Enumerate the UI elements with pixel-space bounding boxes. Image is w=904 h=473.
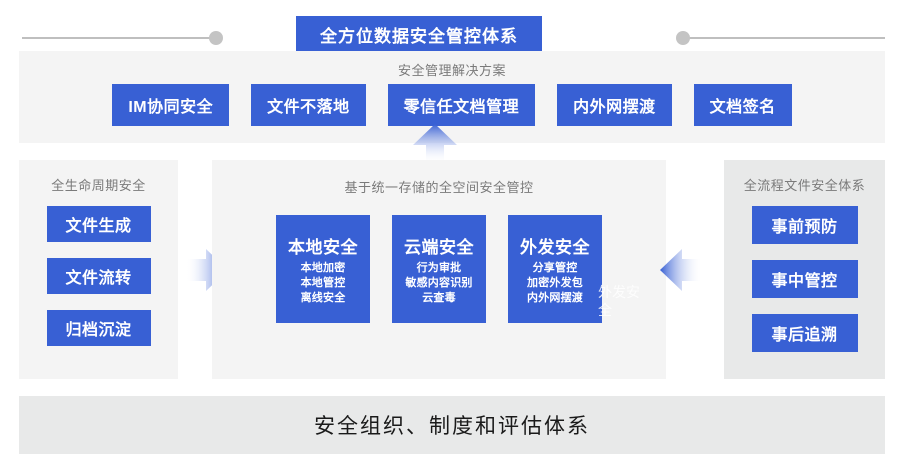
footer-label: 安全组织、制度和评估体系 (314, 410, 590, 440)
process-item-traceability[interactable]: 事后追溯 (752, 314, 858, 352)
lifecycle-item-file-circulation[interactable]: 文件流转 (47, 258, 151, 294)
solutions-caption: 安全管理解决方案 (19, 51, 885, 79)
page-title: 全方位数据安全管控体系 (296, 16, 542, 52)
lifecycle-caption: 全生命周期安全 (19, 160, 178, 194)
solution-chip-no-local-file[interactable]: 文件不落地 (251, 84, 366, 126)
process-item-prevention[interactable]: 事前预防 (752, 206, 858, 244)
core-card-outbound-security-sub: 分享管控加密外发包内外网摆渡 (527, 261, 583, 306)
core-card-local-security-title: 本地安全 (288, 238, 358, 258)
solutions-chip-row: IM协同安全 文件不落地 零信任文档管理 内外网摆渡 文档签名 (19, 84, 885, 126)
core-card-cloud-security-title: 云端安全 (404, 238, 474, 258)
core-card-cloud-security[interactable]: 云端安全 行为审批敏感内容识别云查毒 (392, 215, 486, 323)
solution-chip-network-ferry[interactable]: 内外网摆渡 (557, 84, 672, 126)
connector-rail-right (688, 37, 885, 39)
diagram-canvas: 全方位数据安全管控体系 安全管理解决方案 IM协同安全 文件不落地 零信任文档管… (0, 0, 904, 473)
core-card-local-security[interactable]: 本地安全 本地加密本地管控离线安全 (276, 215, 370, 323)
process-caption: 全流程文件安全体系 (724, 160, 885, 194)
lifecycle-item-file-creation[interactable]: 文件生成 (47, 206, 151, 242)
arrow-left-icon (660, 248, 702, 292)
connector-dot-left (209, 31, 223, 45)
process-item-control[interactable]: 事中管控 (752, 260, 858, 298)
connector-dot-right (676, 31, 690, 45)
core-card-outbound-security-title: 外发安全 (520, 238, 590, 258)
lifecycle-item-archiving[interactable]: 归档沉淀 (47, 310, 151, 346)
core-card-local-security-sub: 本地加密本地管控离线安全 (301, 261, 346, 306)
footer-panel: 安全组织、制度和评估体系 (19, 396, 885, 454)
solution-chip-doc-signature[interactable]: 文档签名 (694, 84, 792, 126)
solution-chip-zero-trust-doc[interactable]: 零信任文档管理 (388, 84, 536, 126)
core-card-outbound-security[interactable]: 外发安全 分享管控加密外发包内外网摆渡 (508, 215, 602, 323)
solution-chip-im[interactable]: IM协同安全 (112, 84, 229, 126)
arrow-up-icon (412, 124, 458, 164)
process-stack: 事前预防 事中管控 事后追溯 (724, 206, 885, 352)
lifecycle-panel: 全生命周期安全 文件生成 文件流转 归档沉淀 (19, 160, 178, 379)
core-caption: 基于统一存储的全空间安全管控 (212, 160, 666, 196)
core-panel: 基于统一存储的全空间安全管控 本地安全 本地加密本地管控离线安全 云端安全 行为… (212, 160, 666, 379)
lifecycle-stack: 文件生成 文件流转 归档沉淀 (19, 206, 178, 346)
connector-rail-left (22, 37, 216, 39)
core-card-row: 本地安全 本地加密本地管控离线安全 云端安全 行为审批敏感内容识别云查毒 外发安… (212, 215, 666, 323)
process-panel: 全流程文件安全体系 事前预防 事中管控 事后追溯 (724, 160, 885, 379)
core-card-cloud-security-sub: 行为审批敏感内容识别云查毒 (405, 261, 472, 306)
